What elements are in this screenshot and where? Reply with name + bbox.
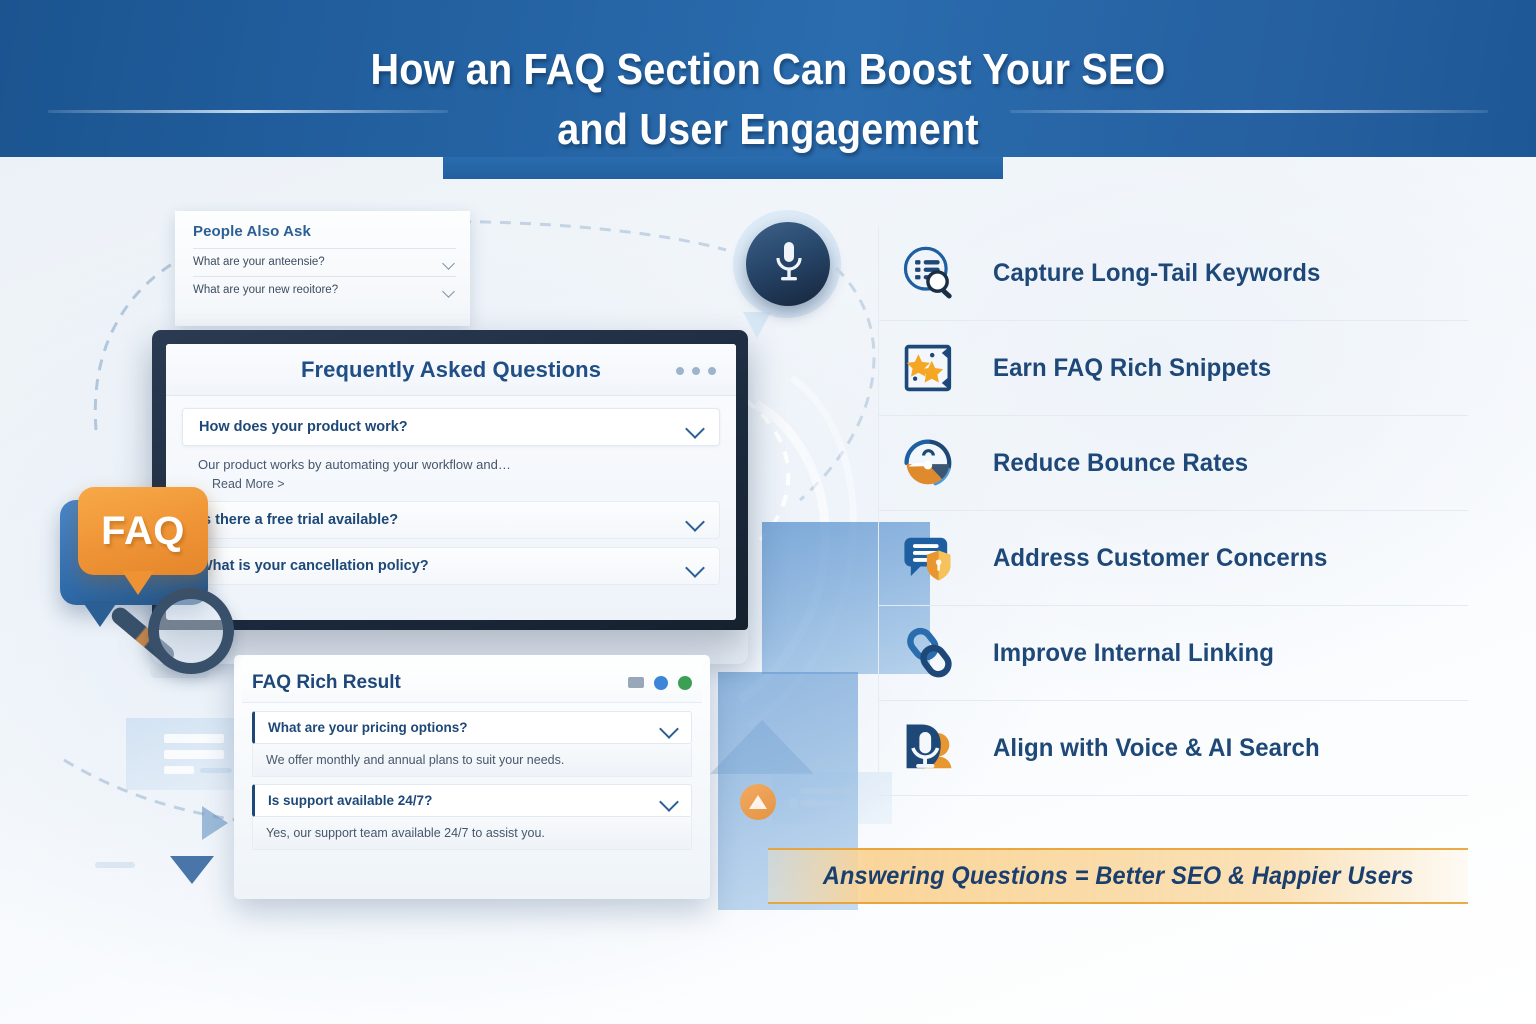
- faq-accordion-item[interactable]: Is there a free trial available?: [182, 501, 720, 539]
- magnifying-glass-icon: [148, 588, 234, 674]
- header-center-tab: [443, 157, 1003, 179]
- benefit-item-align-with-voice-ai-search[interactable]: Align with Voice & AI Search: [879, 701, 1468, 796]
- benefit-label: Earn FAQ Rich Snippets: [993, 354, 1271, 383]
- blue-dot-icon[interactable]: [654, 676, 668, 690]
- page-title-line-1: How an FAQ Section Can Boost Your SEO: [77, 45, 1459, 95]
- faq-question: Is there a free trial available?: [199, 512, 398, 528]
- paa-question: What are your anteensie?: [193, 256, 325, 268]
- benefit-item-improve-internal-linking[interactable]: Improve Internal Linking: [879, 606, 1468, 701]
- decor-pill-6: [806, 798, 816, 808]
- chevron-down-icon[interactable]: [659, 722, 679, 733]
- decor-minibar-1: [164, 734, 224, 743]
- decor-pill-2: [800, 788, 854, 794]
- people-also-ask-card: People Also Ask What are your anteensie?…: [175, 211, 470, 326]
- benefit-label: Align with Voice & AI Search: [993, 734, 1320, 763]
- minimize-icon[interactable]: [628, 677, 644, 688]
- decor-pill-4: [95, 862, 135, 868]
- chevron-down-icon[interactable]: [685, 561, 705, 572]
- rich-question: Is support available 24/7?: [268, 793, 432, 808]
- rich-result-title: FAQ Rich Result: [252, 672, 401, 694]
- rich-answer: We offer monthly and annual plans to sui…: [252, 744, 692, 777]
- decor-minibar-3: [164, 766, 194, 774]
- benefit-label: Address Customer Concerns: [993, 544, 1328, 573]
- microphone-icon: [775, 240, 803, 284]
- decor-play-badge: [740, 784, 776, 820]
- chain-link-icon: [909, 622, 971, 684]
- rich-answer: Yes, our support team available 24/7 to …: [252, 817, 692, 850]
- voice-ai-icon: [909, 717, 971, 779]
- faq-panel-header: Frequently Asked Questions: [166, 344, 736, 396]
- rich-result-header: FAQ Rich Result: [242, 663, 702, 703]
- chevron-down-icon[interactable]: [443, 287, 456, 294]
- faq-rich-result-card: FAQ Rich Result What are your pricing op…: [234, 655, 710, 899]
- rich-result-accordion-list: What are your pricing options? We offer …: [242, 703, 702, 850]
- people-also-ask-title: People Also Ask: [193, 223, 456, 240]
- benefit-label: Improve Internal Linking: [993, 639, 1274, 668]
- footer-banner: Answering Questions = Better SEO & Happi…: [768, 848, 1468, 904]
- faq-badge-bubble: FAQ: [78, 487, 208, 575]
- footer-tagline: Answering Questions = Better SEO & Happi…: [823, 862, 1414, 891]
- rich-question: What are your pricing options?: [268, 720, 468, 735]
- benefit-item-address-customer-concerns[interactable]: Address Customer Concerns: [879, 511, 1468, 606]
- faq-question: How does your product work?: [199, 419, 408, 435]
- decor-pill-1: [200, 768, 232, 773]
- chevron-down-icon[interactable]: [685, 422, 705, 433]
- monitor-screen: Frequently Asked Questions How does your…: [166, 344, 736, 620]
- chevron-down-icon[interactable]: [685, 515, 705, 526]
- faq-badge-label: FAQ: [101, 509, 185, 554]
- faq-accordion-item[interactable]: How does your product work?: [182, 408, 720, 446]
- three-dots-icon[interactable]: [676, 367, 716, 375]
- chevron-down-icon[interactable]: [443, 259, 456, 266]
- read-more-link[interactable]: Read More >: [182, 472, 720, 501]
- benefit-item-earn-faq-rich-snippets[interactable]: Earn FAQ Rich Snippets: [879, 321, 1468, 416]
- document-search-icon: [909, 242, 971, 304]
- faq-question: What is your cancellation policy?: [199, 558, 429, 574]
- benefits-list: Capture Long-Tail Keywords Earn FAQ Rich…: [878, 226, 1468, 796]
- paa-question: What are your new reoitore?: [193, 284, 338, 296]
- green-dot-icon[interactable]: [678, 676, 692, 690]
- decor-arrow-down-1: [170, 856, 214, 884]
- benefit-label: Capture Long-Tail Keywords: [993, 259, 1320, 288]
- rich-accordion-item[interactable]: What are your pricing options?: [252, 711, 692, 744]
- paa-row[interactable]: What are your anteensie?: [193, 248, 456, 268]
- chat-shield-icon: [909, 527, 971, 589]
- faq-answer: Our product works by automating your wor…: [182, 446, 720, 472]
- infographic-canvas: How an FAQ Section Can Boost Your SEO an…: [0, 0, 1536, 1024]
- decor-arrow-right-1: [202, 806, 228, 840]
- paa-row[interactable]: What are your new reoitore?: [193, 276, 456, 296]
- faq-panel-title: Frequently Asked Questions: [301, 357, 601, 383]
- faq-accordion-item[interactable]: What is your cancellation policy?: [182, 547, 720, 585]
- rich-accordion-item[interactable]: Is support available 24/7?: [252, 784, 692, 817]
- chevron-down-icon[interactable]: [659, 795, 679, 806]
- page-title-line-2: and User Engagement: [77, 105, 1459, 155]
- benefit-item-capture-long-tail-keywords[interactable]: Capture Long-Tail Keywords: [879, 226, 1468, 321]
- window-controls[interactable]: [628, 676, 692, 690]
- stars-snippet-icon: [909, 337, 971, 399]
- benefit-label: Reduce Bounce Rates: [993, 449, 1248, 478]
- decor-minibar-2: [164, 750, 224, 759]
- faq-accordion-list: How does your product work? Our product …: [166, 396, 736, 585]
- benefit-item-reduce-bounce-rates[interactable]: Reduce Bounce Rates: [879, 416, 1468, 511]
- decor-pill-5: [788, 798, 798, 808]
- gauge-icon: [909, 432, 971, 494]
- monitor-frame: Frequently Asked Questions How does your…: [152, 330, 748, 630]
